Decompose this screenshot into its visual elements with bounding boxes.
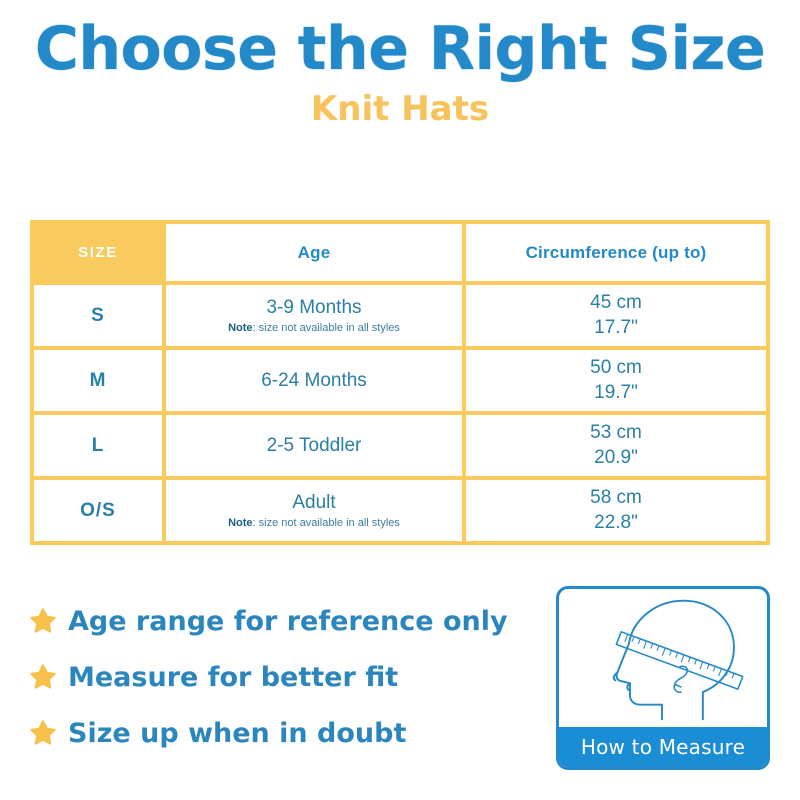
cell-size: S xyxy=(32,283,164,348)
head-profile-with-measuring-tape-icon xyxy=(559,589,767,730)
star-icon xyxy=(28,606,58,636)
tip-text: Age range for reference only xyxy=(68,608,508,635)
star-icon xyxy=(28,662,58,692)
cell-age: 2-5 Toddler xyxy=(164,413,464,478)
page-title: Choose the Right Size xyxy=(0,18,800,81)
table-row: O/S Adult Note: size not available in al… xyxy=(32,478,768,543)
circumference-inch: 19.7" xyxy=(467,381,765,406)
list-item: Size up when in doubt xyxy=(28,712,528,754)
cell-age: Adult Note: size not available in all st… xyxy=(164,478,464,543)
cell-size: L xyxy=(32,413,164,478)
cell-circumference: 53 cm 20.9" xyxy=(464,413,768,478)
cell-size: O/S xyxy=(32,478,164,543)
age-note: Note: size not available in all styles xyxy=(167,322,461,335)
star-icon xyxy=(28,718,58,748)
table-row: M 6-24 Months 50 cm 19.7" xyxy=(32,348,768,413)
note-text: : size not available in all styles xyxy=(253,517,400,529)
circumference-cm: 45 cm xyxy=(467,291,765,316)
cell-circumference: 50 cm 19.7" xyxy=(464,348,768,413)
how-to-measure-card[interactable]: How to Measure xyxy=(556,586,770,770)
circumference-cm: 53 cm xyxy=(467,421,765,446)
note-text: : size not available in all styles xyxy=(253,322,400,334)
cell-circumference: 45 cm 17.7" xyxy=(464,283,768,348)
table-row: L 2-5 Toddler 53 cm 20.9" xyxy=(32,413,768,478)
circumference-inch: 17.7" xyxy=(467,316,765,341)
page-subtitle: Knit Hats xyxy=(0,91,800,128)
circumference-inch: 22.8" xyxy=(467,511,765,536)
age-value: 6-24 Months xyxy=(167,369,461,393)
column-header-circumference: Circumference (up to) xyxy=(464,222,768,283)
age-value: Adult xyxy=(167,491,461,515)
size-chart-table: SIZE Age Circumference (up to) S 3-9 Mon… xyxy=(30,220,770,545)
circumference-inch: 20.9" xyxy=(467,446,765,471)
note-label: Note xyxy=(228,517,252,529)
table-header: SIZE Age Circumference (up to) xyxy=(32,222,768,283)
list-item: Age range for reference only xyxy=(28,600,528,642)
age-value: 2-5 Toddler xyxy=(167,434,461,458)
age-note: Note: size not available in all styles xyxy=(167,517,461,530)
cell-size: M xyxy=(32,348,164,413)
table-body: S 3-9 Months Note: size not available in… xyxy=(32,283,768,543)
circumference-cm: 58 cm xyxy=(467,486,765,511)
tip-text: Size up when in doubt xyxy=(68,720,406,747)
size-chart-table-wrapper: SIZE Age Circumference (up to) S 3-9 Mon… xyxy=(30,220,770,545)
how-to-measure-label: How to Measure xyxy=(559,727,767,767)
cell-age: 6-24 Months xyxy=(164,348,464,413)
tip-text: Measure for better fit xyxy=(68,664,398,691)
list-item: Measure for better fit xyxy=(28,656,528,698)
table-row: S 3-9 Months Note: size not available in… xyxy=(32,283,768,348)
tips-list: Age range for reference only Measure for… xyxy=(28,600,528,768)
column-header-size: SIZE xyxy=(32,222,164,283)
note-label: Note xyxy=(228,322,252,334)
circumference-cm: 50 cm xyxy=(467,356,765,381)
cell-circumference: 58 cm 22.8" xyxy=(464,478,768,543)
age-value: 3-9 Months xyxy=(167,296,461,320)
page-header: Choose the Right Size Knit Hats xyxy=(0,0,800,128)
column-header-age: Age xyxy=(164,222,464,283)
table-header-row: SIZE Age Circumference (up to) xyxy=(32,222,768,283)
cell-age: 3-9 Months Note: size not available in a… xyxy=(164,283,464,348)
